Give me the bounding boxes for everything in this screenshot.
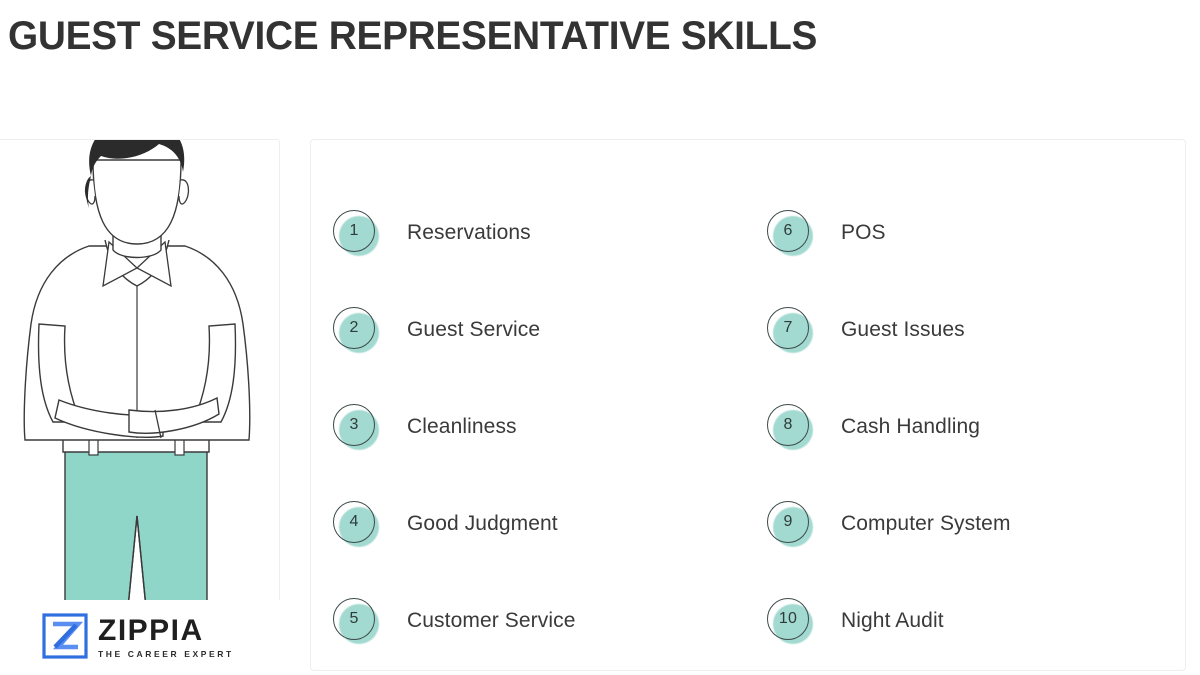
illustration-panel <box>0 139 280 671</box>
skill-item: 1 Reservations <box>333 184 753 281</box>
skill-number-badge: 7 <box>767 307 813 353</box>
skill-number-badge: 6 <box>767 210 813 256</box>
badge-number: 5 <box>333 598 375 640</box>
skills-column-left: 1 Reservations 2 Guest Service 3 Cleanli… <box>333 184 753 669</box>
badge-number: 6 <box>767 210 809 252</box>
zippia-logo-icon <box>42 613 88 659</box>
skill-item: 10 Night Audit <box>767 572 1187 669</box>
zippia-logo: ZIPPIA THE CAREER EXPERT <box>42 608 242 664</box>
badge-number: 4 <box>333 501 375 543</box>
badge-number: 7 <box>767 307 809 349</box>
skill-item: 3 Cleanliness <box>333 378 753 475</box>
skill-number-badge: 8 <box>767 404 813 450</box>
skill-number-badge: 1 <box>333 210 379 256</box>
badge-number: 3 <box>333 404 375 446</box>
skills-panel: 1 Reservations 2 Guest Service 3 Cleanli… <box>310 139 1186 671</box>
skill-item: 2 Guest Service <box>333 281 753 378</box>
badge-number: 2 <box>333 307 375 349</box>
badge-number: 10 <box>767 598 809 640</box>
head-shape <box>93 160 181 244</box>
skill-item: 4 Good Judgment <box>333 475 753 572</box>
skill-item: 5 Customer Service <box>333 572 753 669</box>
skill-label: Night Audit <box>841 609 944 633</box>
person-illustration <box>0 139 280 618</box>
skill-number-badge: 4 <box>333 501 379 547</box>
skill-item: 9 Computer System <box>767 475 1187 572</box>
skill-number-badge: 9 <box>767 501 813 547</box>
skill-label: Reservations <box>407 221 531 245</box>
badge-number: 1 <box>333 210 375 252</box>
skill-item: 6 POS <box>767 184 1187 281</box>
skill-label: Cleanliness <box>407 415 517 439</box>
badge-number: 9 <box>767 501 809 543</box>
page-title: GUEST SERVICE REPRESENTATIVE SKILLS <box>8 14 817 58</box>
zippia-wordmark: ZIPPIA <box>98 616 234 646</box>
skill-item: 7 Guest Issues <box>767 281 1187 378</box>
zippia-tagline: THE CAREER EXPERT <box>98 650 234 659</box>
skill-label: Guest Issues <box>841 318 965 342</box>
skill-label: Guest Service <box>407 318 540 342</box>
skill-label: Good Judgment <box>407 512 558 536</box>
skill-label: POS <box>841 221 886 245</box>
skill-number-badge: 2 <box>333 307 379 353</box>
skill-label: Customer Service <box>407 609 575 633</box>
skill-number-badge: 10 <box>767 598 813 644</box>
skill-number-badge: 3 <box>333 404 379 450</box>
skill-item: 8 Cash Handling <box>767 378 1187 475</box>
skills-column-right: 6 POS 7 Guest Issues 8 Cash Handling <box>767 184 1187 669</box>
skill-label: Computer System <box>841 512 1011 536</box>
skill-number-badge: 5 <box>333 598 379 644</box>
skill-label: Cash Handling <box>841 415 980 439</box>
badge-number: 8 <box>767 404 809 446</box>
